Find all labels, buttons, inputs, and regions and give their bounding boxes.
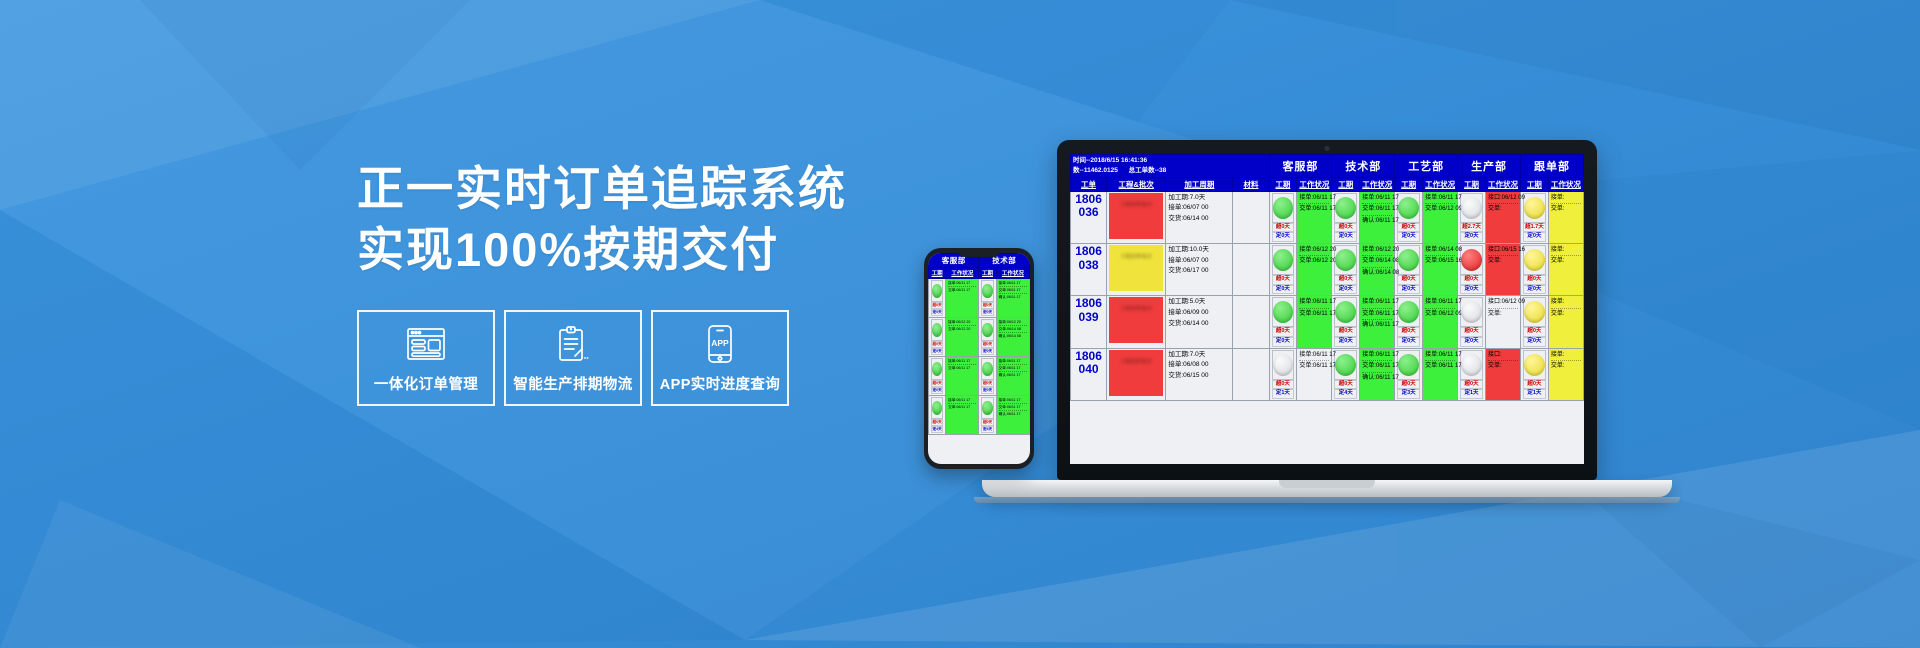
feature-label: APP实时进度查询 [660,373,780,394]
erp-date-entry: 交单:06/14 08 [1362,256,1392,268]
phone-row-0-duration-right[interactable]: 超0天定0天 [979,279,996,318]
erp-batch-status-bar: 工程名称/批次 [1107,243,1166,295]
fixed-days-tag: 定3天 [1397,389,1420,399]
over-days-tag: 超0天 [1523,275,1546,285]
erp-subheader-row: 工单工程&批次加工周期材料工期工作状况工期工作状况工期工作状况工期工作状况工期工… [1071,177,1584,191]
erp-date-entry: 交单:06/11 17 [999,365,1027,372]
erp-deliver-date: 交货:06/15 00 [1168,371,1230,382]
erp-date-entry: 接单:06/11 17 [999,358,1027,365]
erp-dept-0-sub-1[interactable]: 工作状况 [1297,177,1332,191]
fixed-days-tag: 定0天 [1334,285,1357,295]
erp-date-entry: 接口:06/12 09 [1488,297,1518,309]
over-days-tag: 超0天 [1460,275,1483,285]
erp-date-entry: 交单:06/11 17 [1425,361,1455,372]
erp-dept-0-sub-0[interactable]: 工期 [1269,177,1297,191]
erp-date-entry: 交单:06/11 17 [948,404,976,410]
erp-dept-0-worklog[interactable]: 接单:06/12 20交单:06/12 20 [1297,243,1332,295]
phone-row-0-duration-left[interactable]: 超0天定0天 [929,279,946,318]
erp-dept-0-worklog[interactable]: 接单:06/11 17交单:06/11 17 [1297,348,1332,400]
headline-line-1: 正一实时订单追踪系统 [357,158,847,219]
status-indicator-y [1524,354,1545,376]
phone-row-3-worklog-left[interactable]: 接单:06/11 17交单:06/11 17 [946,396,979,435]
erp-receive-date: 接单:06/09 00 [1168,308,1230,319]
status-indicator-g [1273,197,1294,219]
laptop-mockup: 时间--2018/6/15 16:41:36数--11462.0125 总工单数… [1057,140,1680,503]
fixed-days-tag: 定0天 [1460,337,1483,347]
erp-batch-text: 工程名称/批次 [1109,193,1163,209]
fixed-days-tag: 定0天 [1397,232,1420,242]
erp-dept-header-4: 跟单部 [1521,155,1584,178]
erp-date-entry: 接单: [1551,245,1581,257]
erp-date-entry: 交单: [1551,204,1581,215]
fixed-days-tag: 定0天 [981,387,993,394]
clipboard-pen-icon [556,323,590,365]
erp-col-3[interactable]: 材料 [1233,177,1269,191]
fixed-days-tag: 定0天 [1334,337,1357,347]
phone-row-2-worklog-right[interactable]: 接单:06/11 17交单:06/11 17确认:06/11 17 [996,357,1029,396]
erp-date-entry: 接单:06/11 17 [1425,193,1455,205]
erp-date-entry: 确认:06/11 17 [1362,373,1392,384]
erp-date-entry: 接单:06/11 17 [1299,297,1329,309]
table-row[interactable]: 1806039工程名称/批次加工期:5.0天接单:06/09 00交货:06/1… [1071,296,1584,348]
erp-date-entry: 交单:06/11 17 [999,287,1027,294]
erp-order-tracking-table[interactable]: 时间--2018/6/15 16:41:36数--11462.0125 总工单数… [1070,154,1584,464]
fixed-days-tag: 定0天 [981,348,993,355]
status-indicator-g [932,401,942,415]
phone-dept-1-sub-1[interactable]: 工作状况 [996,268,1029,279]
status-indicator-g [932,323,942,337]
table-row[interactable]: 1806038工程名称/批次加工期:10.0天接单:06/07 00交货:06/… [1071,243,1584,295]
status-indicator-w [1461,354,1482,376]
erp-dept-2-worklog[interactable]: 接单:06/14 08交单:06/15 16 [1423,243,1458,295]
phone-row-3-duration-right[interactable]: 超0天定4天 [979,396,996,435]
table-row[interactable]: 1806040工程名称/批次加工期:7.0天接单:06/08 00交货:06/1… [1071,348,1584,400]
status-indicator-g [982,362,992,376]
feature-app-progress[interactable]: APP APP实时进度查询 [651,310,789,406]
status-indicator-w [1461,301,1482,323]
over-days-tag: 超1.7天 [1523,223,1546,233]
phone-row-2-duration-left[interactable]: 超0天定0天 [929,357,946,396]
erp-dept-4-worklog[interactable]: 接单:交单: [1548,191,1583,243]
erp-dept-0-worklog[interactable]: 接单:06/11 17交单:06/11 17 [1297,296,1332,348]
phone-dept-0-sub-0[interactable]: 工期 [929,268,946,279]
mobile-app-icon: APP [707,323,733,365]
erp-date-entry: 交单: [1488,309,1518,320]
erp-cycle: 加工期:5.0天 [1168,297,1230,308]
list-item[interactable]: 超0天定4天接单:06/11 17交单:06/11 17超0天定4天接单:06/… [929,396,1030,435]
erp-date-entry: 交单: [1488,256,1518,267]
erp-work-order-number[interactable]: 1806038 [1071,243,1107,295]
erp-dept-0-duration[interactable]: 超0天定0天 [1269,191,1297,243]
erp-dept-1-duration[interactable]: 超0天定0天 [1332,191,1360,243]
erp-date-entry: 确认:06/14 08 [999,333,1027,339]
erp-dept-1-sub-0[interactable]: 工期 [1332,177,1360,191]
phone-dept-1-sub-0[interactable]: 工期 [979,268,996,279]
status-indicator-g [1398,354,1419,376]
erp-date-entry: 交单:06/11 17 [1299,309,1329,320]
list-item[interactable]: 超0天定0天接单:06/11 17交单:06/11 17超0天定0天接单:06/… [929,279,1030,318]
laptop-base [982,480,1672,497]
erp-date-entry: 交单: [1488,204,1518,215]
erp-dept-3-worklog[interactable]: 接口:交单: [1485,348,1520,400]
erp-material-cell [1233,348,1269,400]
table-row[interactable]: 1806036工程名称/批次加工期:7.0天接单:06/07 00交货:06/1… [1071,191,1584,243]
erp-date-entry: 交单:06/11 17 [948,365,976,371]
erp-total-label: 总工单数--38 [1129,167,1167,174]
erp-date-entry: 接口:06/12 09 [1488,193,1518,205]
erp-date-entry: 交单: [1551,361,1581,372]
phone-row-0-worklog-left[interactable]: 接单:06/11 17交单:06/11 17 [946,279,979,318]
erp-work-order-number[interactable]: 1806039 [1071,296,1107,348]
erp-batch-status-bar: 工程名称/批次 [1107,348,1166,400]
erp-dept-4-worklog[interactable]: 接单:交单: [1548,348,1583,400]
erp-cycle: 加工期:10.0天 [1168,245,1230,256]
erp-dept-0-duration[interactable]: 超0天定0天 [1269,296,1297,348]
status-indicator-w [1273,354,1294,376]
over-days-tag: 超0天 [1397,223,1420,233]
over-days-tag: 超0天 [981,302,993,309]
phone-erp-table[interactable]: 客服部技术部工期工作状况工期工作状况超0天定0天接单:06/11 17交单:06… [928,253,1030,464]
erp-work-order-number[interactable]: 1806036 [1071,191,1107,243]
erp-date-entry: 交单:06/11 17 [1362,361,1392,373]
over-days-tag: 超0天 [1397,380,1420,390]
erp-date-entry: 确认:06/11 17 [999,411,1027,417]
erp-date-entry: 交单:06/11 17 [1299,204,1329,215]
status-indicator-g [932,284,942,298]
erp-dept-2-worklog[interactable]: 接单:06/11 17交单:06/11 17 [1423,348,1458,400]
phone-row-2-duration-right[interactable]: 超0天定0天 [979,357,996,396]
erp-dept-4-worklog[interactable]: 接单:交单: [1548,296,1583,348]
status-indicator-g [1335,249,1356,271]
status-indicator-g [1273,249,1294,271]
erp-date-entry: 接单:06/11 17 [948,397,976,404]
erp-deliver-date: 交货:06/14 00 [1168,214,1230,225]
erp-batch-text: 工程名称/批次 [1109,297,1163,313]
phone-row-1-duration-right[interactable]: 超0天定0天 [979,318,996,357]
erp-date-entry: 确认:06/11 17 [999,294,1027,300]
status-indicator-g [1398,301,1419,323]
feature-list: 一体化订单管理 智能生产排期物流 [357,310,847,406]
erp-header-row: 时间--2018/6/15 16:41:36数--11462.0125 总工单数… [1071,155,1584,178]
hero-copy: 正一实时订单追踪系统 实现100%按期交付 一体化订单管理 [357,158,847,406]
webcam-icon [1325,146,1330,151]
fixed-days-tag: 定1天 [1523,389,1546,399]
erp-date-entry: 确认:06/11 17 [999,372,1027,378]
phone-body: 客服部技术部工期工作状况工期工作状况超0天定0天接单:06/11 17交单:06… [924,248,1034,469]
over-days-tag: 超0天 [931,341,943,348]
erp-dept-1-worklog[interactable]: 接单:06/11 17交单:06/11 17确认:06/11 17 [1360,296,1395,348]
erp-deliver-date: 交货:06/14 00 [1168,319,1230,330]
erp-schedule-cell: 加工期:7.0天接单:06/08 00交货:06/15 00 [1166,348,1233,400]
status-indicator-g [1398,197,1419,219]
erp-time-label: 时间--2018/6/15 16:41:36 [1073,156,1267,166]
erp-work-order-number[interactable]: 1806040 [1071,348,1107,400]
fixed-days-tag: 定1天 [1272,389,1295,399]
status-indicator-g [982,401,992,415]
phone-row-1-worklog-right[interactable]: 接单:06/12 20交单:06/14 08确认:06/14 08 [996,318,1029,357]
status-indicator-g [1335,354,1356,376]
erp-date-entry: 接单:06/11 17 [1362,193,1392,205]
fixed-days-tag: 定1天 [1460,389,1483,399]
erp-dept-3-worklog[interactable]: 接口:06/12 09交单: [1485,296,1520,348]
erp-dept-2-worklog[interactable]: 接单:06/11 17交单:06/12 09 [1423,296,1458,348]
erp-dept-header-1: 技术部 [1332,155,1395,178]
erp-schedule-cell: 加工期:5.0天接单:06/09 00交货:06/14 00 [1166,296,1233,348]
erp-date-entry: 交单:06/11 17 [1362,309,1392,321]
erp-dept-1-duration[interactable]: 超0天定0天 [1332,243,1360,295]
erp-date-entry: 交单:06/11 17 [999,404,1027,411]
erp-date-entry: 交单:06/11 17 [1299,361,1329,372]
erp-material-cell [1233,296,1269,348]
status-indicator-y [1524,249,1545,271]
phone-row-0-worklog-right[interactable]: 接单:06/11 17交单:06/11 17确认:06/11 17 [996,279,1029,318]
erp-batch-text: 工程名称/批次 [1109,245,1163,261]
fixed-days-tag: 定4天 [1334,389,1357,399]
erp-dept-4-sub-1[interactable]: 工作状况 [1548,177,1583,191]
erp-dept-1-sub-1[interactable]: 工作状况 [1360,177,1395,191]
erp-date-entry: 接单:06/11 17 [1425,350,1455,362]
erp-batch-text: 工程名称/批次 [1109,350,1163,366]
list-item[interactable]: 超0天定0天接单:06/12 20交单:06/12 20超0天定0天接单:06/… [929,318,1030,357]
smartphone-mockup: 客服部技术部工期工作状况工期工作状况超0天定0天接单:06/11 17交单:06… [924,248,1034,469]
laptop-base-shadow [974,497,1680,503]
erp-date-entry: 接单:06/11 17 [948,280,976,287]
erp-material-cell [1233,243,1269,295]
erp-date-entry: 交单:06/14 08 [999,326,1027,333]
erp-date-entry: 接单:06/11 17 [999,280,1027,287]
phone-dept-0-sub-1[interactable]: 工作状况 [946,268,979,279]
fixed-days-tag: 定0天 [1460,232,1483,242]
erp-date-entry: 接单:06/11 17 [1299,193,1329,205]
erp-dept-4-worklog[interactable]: 接单:交单: [1548,243,1583,295]
fixed-days-tag: 定0天 [1272,285,1295,295]
erp-dept-2-worklog[interactable]: 接单:06/11 17交单:06/12 09 [1423,191,1458,243]
fixed-days-tag: 定0天 [931,387,943,394]
over-days-tag: 超0天 [1272,380,1295,390]
status-indicator-g [1335,301,1356,323]
erp-date-entry: 接单:06/12 20 [1299,245,1329,257]
erp-date-entry: 交单:06/12 09 [1425,309,1455,320]
fixed-days-tag: 定0天 [931,309,943,316]
erp-date-entry: 接单:06/12 20 [948,319,976,326]
erp-date-entry: 接单:06/11 17 [1299,350,1329,362]
erp-dept-1-duration[interactable]: 超0天定0天 [1332,296,1360,348]
erp-date-entry: 接单:06/11 17 [1362,297,1392,309]
erp-date-entry: 接单:06/12 20 [999,319,1027,326]
fixed-days-tag: 定0天 [1272,337,1295,347]
fixed-days-tag: 定0天 [1272,232,1295,242]
feature-order-management[interactable]: 一体化订单管理 [357,310,495,406]
erp-dept-3-worklog[interactable]: 接口:06/12 09交单: [1485,191,1520,243]
over-days-tag: 超0天 [931,419,943,426]
phone-row-3-duration-left[interactable]: 超0天定4天 [929,396,946,435]
over-days-tag: 超0天 [1334,327,1357,337]
fixed-days-tag: 定0天 [981,309,993,316]
over-days-tag: 超0天 [981,341,993,348]
erp-dept-3-worklog[interactable]: 接口:06/15 16交单: [1485,243,1520,295]
phone-row-1-worklog-left[interactable]: 接单:06/12 20交单:06/12 20 [946,318,979,357]
erp-col-2[interactable]: 加工周期 [1166,177,1233,191]
erp-date-entry: 接单:06/12 20 [1362,245,1392,257]
over-days-tag: 超0天 [1334,275,1357,285]
erp-receive-date: 接单:06/07 00 [1168,203,1230,214]
erp-date-entry: 交单: [1551,309,1581,320]
status-indicator-g [1398,249,1419,271]
phone-subheader-row: 工期工作状况工期工作状况 [929,268,1030,279]
erp-batch-status-bar: 工程名称/批次 [1107,191,1166,243]
status-indicator-g [1273,301,1294,323]
erp-date-entry: 交单:06/12 20 [948,326,976,332]
erp-date-entry: 交单:06/11 17 [1362,204,1392,216]
erp-dept-3-sub-1[interactable]: 工作状况 [1485,177,1520,191]
status-indicator-g [932,362,942,376]
over-days-tag: 超0天 [931,302,943,309]
erp-dept-0-duration[interactable]: 超0天定0天 [1269,243,1297,295]
erp-date-entry: 交单:06/11 17 [948,287,976,293]
over-days-tag: 超0天 [1272,275,1295,285]
erp-date-entry: 接单: [1551,193,1581,205]
erp-date-entry: 确认:06/11 17 [1362,320,1392,331]
over-days-tag: 超0天 [931,380,943,387]
status-indicator-y [1524,197,1545,219]
erp-deliver-date: 交货:06/17 00 [1168,266,1230,277]
fixed-days-tag: 定0天 [1523,337,1546,347]
erp-col-0[interactable]: 工单 [1071,177,1107,191]
over-days-tag: 超0天 [1272,223,1295,233]
erp-col-1[interactable]: 工程&批次 [1107,177,1166,191]
status-indicator-y [1524,301,1545,323]
erp-cycle: 加工期:7.0天 [1168,350,1230,361]
erp-batch-status-bar: 工程名称/批次 [1107,296,1166,348]
fixed-days-tag: 定0天 [1523,285,1546,295]
status-indicator-g [982,323,992,337]
over-days-tag: 超0天 [1334,380,1357,390]
erp-dept-header-2: 工艺部 [1395,155,1458,178]
erp-date-entry: 交单:06/12 09 [1425,204,1455,215]
erp-schedule-cell: 加工期:7.0天接单:06/07 00交货:06/14 00 [1166,191,1233,243]
phone-row-2-worklog-left[interactable]: 接单:06/11 17交单:06/11 17 [946,357,979,396]
erp-date-entry: 接单:06/11 17 [999,397,1027,404]
erp-date-entry: 接单:06/11 17 [1425,297,1455,309]
erp-date-entry: 确认:06/14 08 [1362,268,1392,279]
erp-dept-header-0: 客服部 [1269,155,1332,178]
feature-smart-scheduling[interactable]: 智能生产排期物流 [504,310,642,406]
erp-date-entry: 接单: [1551,297,1581,309]
laptop-lid: 时间--2018/6/15 16:41:36数--11462.0125 总工单数… [1057,140,1597,480]
erp-dept-4-sub-0[interactable]: 工期 [1521,177,1549,191]
fixed-days-tag: 定0天 [1460,285,1483,295]
phone-row-3-worklog-right[interactable]: 接单:06/11 17交单:06/11 17确认:06/11 17 [996,396,1029,435]
status-indicator-r [1461,249,1482,271]
headline-line-2: 实现100%按期交付 [357,219,847,280]
erp-dept-2-sub-1[interactable]: 工作状况 [1423,177,1458,191]
erp-date-entry: 交单:06/15 16 [1425,256,1455,267]
app-icon-text: APP [711,338,729,348]
status-indicator-w [1461,197,1482,219]
erp-material-cell [1233,191,1269,243]
erp-date-entry: 接单:06/14 08 [1425,245,1455,257]
over-days-tag: 超0天 [1460,380,1483,390]
over-days-tag: 超0天 [981,380,993,387]
erp-count-label: 数--11462.0125 [1073,167,1118,174]
status-indicator-g [1335,197,1356,219]
over-days-tag: 超0天 [1460,327,1483,337]
erp-date-entry: 接口: [1488,350,1518,362]
fixed-days-tag: 定0天 [1397,337,1420,347]
erp-dept-header-3: 生产部 [1458,155,1521,178]
over-days-tag: 超0天 [1523,380,1546,390]
erp-dept-1-worklog[interactable]: 接单:06/11 17交单:06/11 17确认:06/11 17 [1360,348,1395,400]
fixed-days-tag: 定0天 [1397,285,1420,295]
over-days-tag: 超0天 [1272,327,1295,337]
erp-schedule-cell: 加工期:10.0天接单:06/07 00交货:06/17 00 [1166,243,1233,295]
over-days-tag: 超0天 [1397,327,1420,337]
erp-dept-0-worklog[interactable]: 接单:06/11 17交单:06/11 17 [1297,191,1332,243]
feature-label: 智能生产排期物流 [513,373,632,394]
over-days-tag: 超0天 [1334,223,1357,233]
erp-date-entry: 交单: [1488,361,1518,372]
erp-dept-1-duration[interactable]: 超0天定4天 [1332,348,1360,400]
erp-dept-0-duration[interactable]: 超0天定1天 [1269,348,1297,400]
fixed-days-tag: 定4天 [931,426,943,433]
phone-screen[interactable]: 客服部技术部工期工作状况工期工作状况超0天定0天接单:06/11 17交单:06… [928,253,1030,464]
erp-date-entry: 接口:06/15 16 [1488,245,1518,257]
erp-date-entry: 接单: [1551,350,1581,362]
over-days-tag: 超0天 [1397,275,1420,285]
erp-date-entry: 交单:06/12 20 [1299,256,1329,267]
phone-notch [958,248,1000,257]
fixed-days-tag: 定4天 [981,426,993,433]
phone-row-1-duration-left[interactable]: 超0天定0天 [929,318,946,357]
status-indicator-g [982,284,992,298]
erp-count-row: 数--11462.0125 总工单数--38 [1073,166,1267,176]
erp-dept-3-sub-0[interactable]: 工期 [1458,177,1486,191]
erp-date-entry: 确认:06/11 17 [1362,216,1392,227]
fixed-days-tag: 定0天 [931,348,943,355]
erp-date-entry: 交单: [1551,256,1581,267]
erp-dept-1-worklog[interactable]: 接单:06/12 20交单:06/14 08确认:06/14 08 [1360,243,1395,295]
erp-dept-1-worklog[interactable]: 接单:06/11 17交单:06/11 17确认:06/11 17 [1360,191,1395,243]
erp-cycle: 加工期:7.0天 [1168,193,1230,204]
list-item[interactable]: 超0天定0天接单:06/11 17交单:06/11 17超0天定0天接单:06/… [929,357,1030,396]
erp-receive-date: 接单:06/07 00 [1168,256,1230,267]
over-days-tag: 超0天 [1523,327,1546,337]
erp-date-entry: 接单:06/11 17 [948,358,976,365]
fixed-days-tag: 定0天 [1523,232,1546,242]
erp-receive-date: 接单:06/08 00 [1168,360,1230,371]
dashboard-window-icon [406,323,446,365]
laptop-screen[interactable]: 时间--2018/6/15 16:41:36数--11462.0125 总工单数… [1070,154,1584,464]
erp-meta-cell: 时间--2018/6/15 16:41:36数--11462.0125 总工单数… [1071,155,1270,178]
erp-dept-2-sub-0[interactable]: 工期 [1395,177,1423,191]
feature-label: 一体化订单管理 [374,373,478,394]
fixed-days-tag: 定0天 [1334,232,1357,242]
over-days-tag: 超2.7天 [1460,223,1483,233]
erp-date-entry: 接单:06/11 17 [1362,350,1392,362]
over-days-tag: 超0天 [981,419,993,426]
erp-dept-4-duration[interactable]: 超0天定1天 [1521,348,1549,400]
